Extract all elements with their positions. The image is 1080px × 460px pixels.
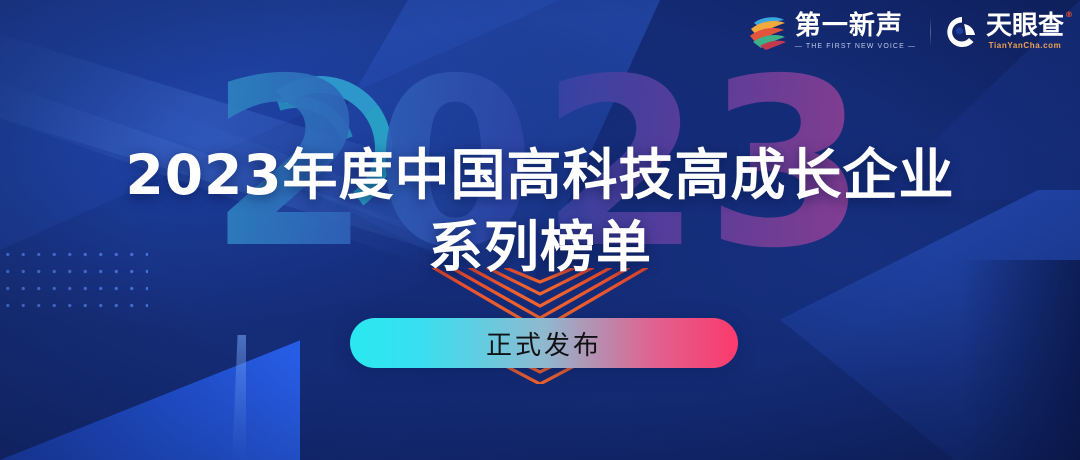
logo-first-new-voice-tagline: — THE FIRST NEW VOICE — — [795, 43, 916, 50]
swoosh-logo-icon — [748, 14, 788, 50]
logo-bar: 第一新声 — THE FIRST NEW VOICE — 天眼查 ® TianY… — [748, 13, 1064, 50]
camera-aperture-logo-icon — [945, 15, 979, 49]
background-vignette — [0, 0, 1080, 460]
logo-tianyancha-name: 天眼查 ® — [986, 13, 1064, 39]
logo-first-new-voice[interactable]: 第一新声 — THE FIRST NEW VOICE — — [748, 13, 916, 50]
logo-first-new-voice-name: 第一新声 — [795, 13, 916, 39]
award-announcement-banner: 2023 — [0, 0, 1080, 460]
logo-tianyancha[interactable]: 天眼查 ® TianYanCha.com — [945, 13, 1064, 50]
trademark-icon: ® — [1065, 11, 1073, 19]
logo-first-new-voice-text: 第一新声 — THE FIRST NEW VOICE — — [795, 13, 916, 50]
logo-tianyancha-name-text: 天眼查 — [986, 11, 1064, 41]
logo-tianyancha-tagline: TianYanCha.com — [986, 42, 1064, 50]
logo-tianyancha-text: 天眼查 ® TianYanCha.com — [986, 13, 1064, 50]
logo-divider — [930, 17, 931, 47]
